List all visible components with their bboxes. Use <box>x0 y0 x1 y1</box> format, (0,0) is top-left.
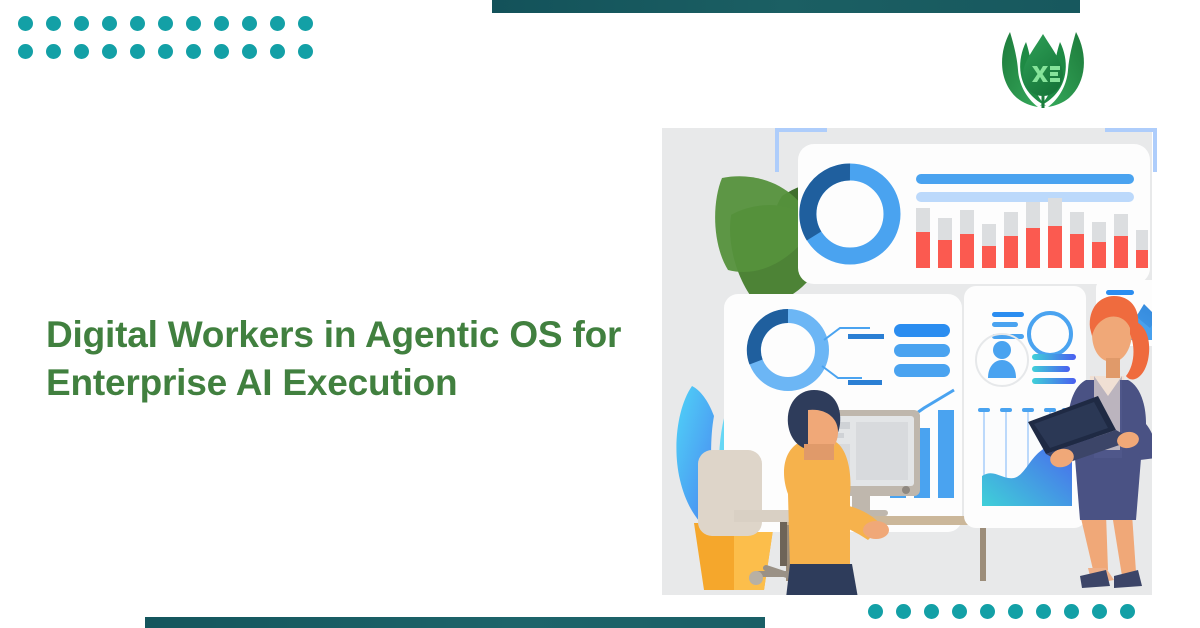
bottom-accent-bar <box>145 617 765 628</box>
decorative-dot <box>1036 604 1051 619</box>
droplet-leaf-logo-icon <box>993 20 1093 114</box>
decorative-dot <box>158 16 173 31</box>
headline-line-2: Enterprise AI Execution <box>46 359 636 407</box>
decorative-dot <box>186 44 201 59</box>
decorative-dot <box>186 16 201 31</box>
decorative-dot <box>298 16 313 31</box>
illustration-panel <box>662 128 1152 595</box>
gradient-bars <box>1032 354 1076 360</box>
decorative-dot <box>270 44 285 59</box>
decorative-dot <box>214 16 229 31</box>
decorative-dot <box>1008 604 1023 619</box>
analytics-illustration <box>662 128 1152 595</box>
corner-bracket-top-right <box>1105 128 1157 172</box>
top-accent-bar <box>492 0 1080 13</box>
decorative-dot <box>868 604 883 619</box>
seated-worker-legs <box>786 564 858 595</box>
right-profile-card <box>964 286 1086 528</box>
pill-bars <box>894 324 950 377</box>
decorative-dot <box>980 604 995 619</box>
banner-canvas: Digital Workers in Agentic OS for Enterp… <box>0 0 1200 628</box>
top-chart-card <box>798 144 1150 284</box>
decorative-dot <box>130 44 145 59</box>
decorative-dot <box>896 604 911 619</box>
decorative-dot <box>158 44 173 59</box>
decorative-dot <box>924 604 939 619</box>
headline-line-1: Digital Workers in Agentic OS for <box>46 314 621 355</box>
decorative-dot <box>46 16 61 31</box>
corner-bracket-top-left <box>775 128 827 172</box>
dot-grid-top-left <box>18 16 326 72</box>
dot-grid-bottom-right <box>868 604 1148 624</box>
decorative-dot <box>74 16 89 31</box>
page-title: Digital Workers in Agentic OS for Enterp… <box>46 311 636 407</box>
decorative-dot <box>214 44 229 59</box>
decorative-dot <box>952 604 967 619</box>
decorative-dot <box>242 16 257 31</box>
decorative-dot <box>1064 604 1079 619</box>
decorative-dot <box>1120 604 1135 619</box>
blue-bar-line-2 <box>916 192 1134 202</box>
decorative-dot <box>102 16 117 31</box>
decorative-dot <box>46 44 61 59</box>
brand-logo[interactable] <box>993 20 1093 114</box>
decorative-dot <box>130 16 145 31</box>
decorative-dot <box>74 44 89 59</box>
decorative-dot <box>298 44 313 59</box>
decorative-dot <box>18 16 33 31</box>
decorative-dot <box>102 44 117 59</box>
blue-bar-line-1 <box>916 174 1134 184</box>
decorative-dot <box>242 44 257 59</box>
decorative-dot <box>1092 604 1107 619</box>
decorative-dot <box>18 44 33 59</box>
decorative-dot <box>270 16 285 31</box>
